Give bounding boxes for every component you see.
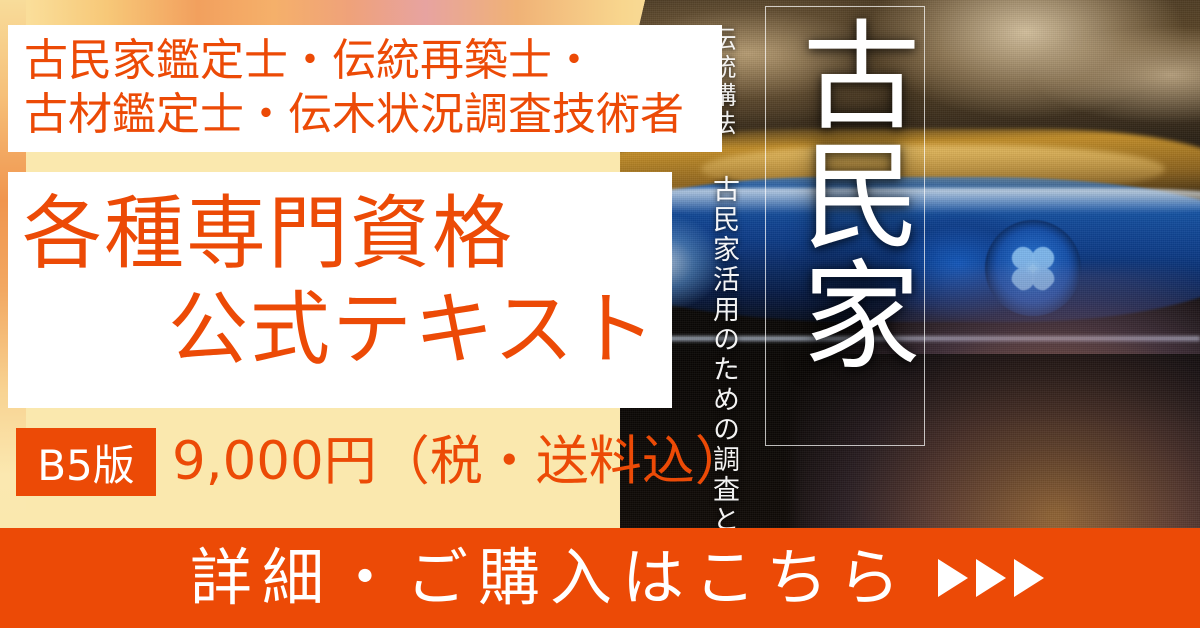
triangle-right-icon [938, 559, 968, 597]
price-text: 9,000円（税・送料込） [172, 430, 748, 494]
promo-banner[interactable]: 古民家 伝統構法 古民家活用のための調査と再生の 古民家鑑定士・伝統再築士・ 古… [0, 0, 1200, 628]
main-title-card: 各種専門資格 公式テキスト [8, 172, 672, 408]
triangle-right-icon [976, 559, 1006, 597]
triangle-right-icon [1014, 559, 1044, 597]
qualifications-line-2: 古材鑑定士・伝木状況調査技術者 [24, 87, 684, 142]
cta-bar[interactable]: 詳細・ご購入はこちら [0, 528, 1200, 628]
qualifications-line-1: 古民家鑑定士・伝統再築士・ [24, 33, 596, 88]
cover-title: 古民家 [770, 14, 920, 434]
format-badge-label: B5版 [16, 428, 156, 496]
qualifications-card: 古民家鑑定士・伝統再築士・ 古材鑑定士・伝木状況調査技術者 [8, 25, 722, 152]
main-title-line-2: 公式テキスト [168, 284, 658, 376]
format-badge: B5版 [16, 428, 156, 496]
cta-arrows [938, 559, 1044, 597]
cta-label: 詳細・ご購入はこちら [156, 542, 910, 614]
main-title-line-1: 各種専門資格 [22, 188, 514, 280]
